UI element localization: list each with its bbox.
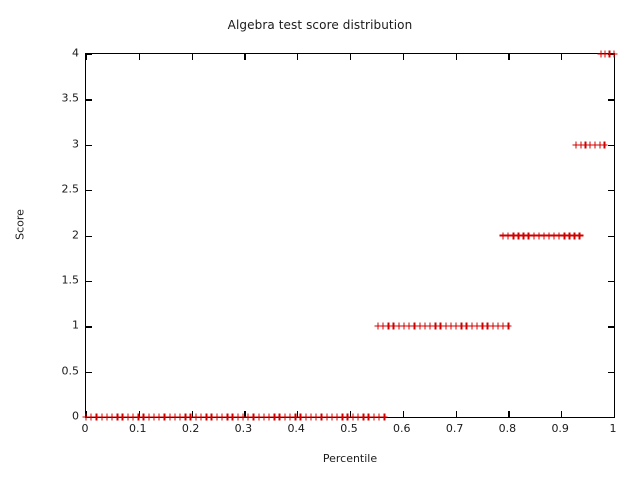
data-point-marker [596,141,603,148]
y-tick-right [608,281,614,282]
y-tick-left [86,145,92,146]
data-point-marker [166,414,173,421]
data-point-marker [255,414,262,421]
data-point-marker [323,414,330,421]
y-tick-left [86,99,92,100]
data-point-marker [302,414,309,421]
data-point-marker [546,232,553,239]
data-point-marker [124,414,131,421]
data-point-marker [421,323,428,330]
data-point-marker [458,323,465,330]
x-tick-top [192,54,193,60]
data-point-marker [198,414,205,421]
x-tick-label: 0.6 [393,422,411,435]
data-point-marker [313,414,320,421]
data-point-marker [151,414,158,421]
data-point-marker [453,323,460,330]
data-point-marker [510,232,517,239]
data-point-marker [119,414,126,421]
chart-title: Algebra test score distribution [0,18,640,32]
x-tick-bottom [561,411,562,417]
y-tick-left [86,326,92,327]
data-point-marker [245,414,252,421]
data-point-marker [406,323,413,330]
y-tick-label: 4 [72,47,79,60]
x-tick-top [456,54,457,60]
data-point-marker [540,232,547,239]
chart-figure: Algebra test score distribution 00.10.20… [0,0,640,480]
data-point-marker [177,414,184,421]
x-tick-label: 0.5 [340,422,358,435]
data-point-marker [442,323,449,330]
data-point-marker [355,414,362,421]
y-tick-left [86,281,92,282]
y-tick-right [608,190,614,191]
data-point-marker [213,414,220,421]
data-point-marker [525,232,532,239]
data-point-marker [411,323,418,330]
data-point-marker [281,414,288,421]
x-tick-label: 0.1 [129,422,147,435]
data-point-marker [576,232,583,239]
data-point-marker [182,414,189,421]
data-point-marker [385,323,392,330]
y-tick-right [608,54,614,55]
y-tick-right [608,99,614,100]
data-point-marker [250,414,257,421]
data-point-marker [266,414,273,421]
data-point-marker [401,323,408,330]
data-point-marker [171,414,178,421]
data-point-marker [380,323,387,330]
y-axis-title: Score [14,195,27,255]
data-point-marker [365,414,372,421]
data-point-marker [515,232,522,239]
data-point-marker [416,323,423,330]
data-point-marker [370,414,377,421]
data-point-marker [192,414,199,421]
data-point-marker [339,414,346,421]
y-tick-label: 1.5 [62,273,80,286]
x-tick-top [508,54,509,60]
y-tick-right [608,145,614,146]
y-tick-left [86,190,92,191]
x-axis-title: Percentile [85,452,615,465]
x-tick-bottom [508,411,509,417]
data-point-marker [93,414,100,421]
x-tick-label: 0 [82,422,89,435]
data-point-marker [551,232,558,239]
data-point-marker [468,323,475,330]
data-point-marker [556,232,563,239]
y-tick-label: 3.5 [62,92,80,105]
data-point-marker [395,323,402,330]
x-tick-bottom [192,411,193,417]
data-point-marker [103,414,110,421]
x-tick-top [561,54,562,60]
data-point-marker [500,232,507,239]
data-point-marker [520,232,527,239]
data-point-marker [229,414,236,421]
y-tick-left [86,417,92,418]
data-point-marker [561,232,568,239]
x-tick-label: 1 [610,422,617,435]
data-point-marker [260,414,267,421]
x-tick-bottom [403,411,404,417]
data-point-marker [334,414,341,421]
x-tick-label: 0.8 [499,422,517,435]
y-tick-label: 2.5 [62,183,80,196]
data-point-marker [432,323,439,330]
data-point-marker [582,141,589,148]
data-point-marker [463,323,470,330]
x-tick-label: 0.2 [182,422,200,435]
data-point-marker [505,323,512,330]
x-tick-top [350,54,351,60]
data-point-marker [489,323,496,330]
y-tick-left [86,372,92,373]
y-tick-label: 2 [72,228,79,241]
x-tick-top [139,54,140,60]
data-point-marker [328,414,335,421]
y-tick-label: 0.5 [62,364,80,377]
x-tick-label: 0.9 [551,422,569,435]
data-point-marker [156,414,163,421]
x-tick-top [244,54,245,60]
data-point-marker [427,323,434,330]
x-axis-tick-labels: 00.10.20.30.40.50.60.70.80.91 [85,422,615,440]
data-point-marker [287,414,294,421]
data-point-marker [572,141,579,148]
data-point-marker [98,414,105,421]
data-point-marker [479,323,486,330]
data-point-marker [208,414,215,421]
x-tick-label: 0.4 [287,422,305,435]
y-tick-left [86,236,92,237]
data-point-marker [318,414,325,421]
x-tick-top [297,54,298,60]
y-tick-right [608,326,614,327]
data-point-marker [114,414,121,421]
data-point-marker [437,323,444,330]
x-tick-bottom [614,411,615,417]
data-point-marker [390,323,397,330]
x-tick-label: 0.7 [446,422,464,435]
data-point-marker [308,414,315,421]
data-point-marker [360,414,367,421]
data-point-marker [571,232,578,239]
data-point-marker [535,232,542,239]
x-tick-top [614,54,615,60]
data-point-marker [374,323,381,330]
data-point-marker [109,414,116,421]
data-point-marker [500,323,507,330]
data-point-marker [161,414,168,421]
data-point-marker [448,323,455,330]
data-point-marker [234,414,241,421]
y-tick-label: 0 [72,410,79,423]
data-point-marker [484,323,491,330]
data-point-marker [140,414,147,421]
y-tick-right [608,372,614,373]
data-point-marker [376,414,383,421]
data-point-marker [597,51,604,58]
data-point-marker [591,141,598,148]
data-point-marker [587,141,594,148]
data-point-marker [577,141,584,148]
data-point-marker [505,232,512,239]
y-axis-tick-labels: 00.511.522.533.54 [0,53,79,418]
data-point-marker [224,414,231,421]
x-tick-bottom [350,411,351,417]
y-tick-left [86,54,92,55]
data-point-marker [219,414,226,421]
data-point-marker [381,414,388,421]
data-point-marker [145,414,152,421]
y-tick-right [608,417,614,418]
data-point-marker [566,232,573,239]
x-tick-top [403,54,404,60]
x-tick-label: 0.3 [235,422,253,435]
x-tick-bottom [139,411,140,417]
data-point-marker [271,414,278,421]
x-tick-bottom [456,411,457,417]
plot-area [85,53,615,418]
x-tick-bottom [297,411,298,417]
y-tick-label: 1 [72,319,79,332]
data-point-marker [530,232,537,239]
y-tick-label: 3 [72,137,79,150]
y-tick-right [608,236,614,237]
data-point-marker [203,414,210,421]
data-point-marker [130,414,137,421]
data-point-marker [601,141,608,148]
data-point-marker [494,323,501,330]
x-tick-bottom [244,411,245,417]
data-point-marker [276,414,283,421]
data-point-marker [474,323,481,330]
